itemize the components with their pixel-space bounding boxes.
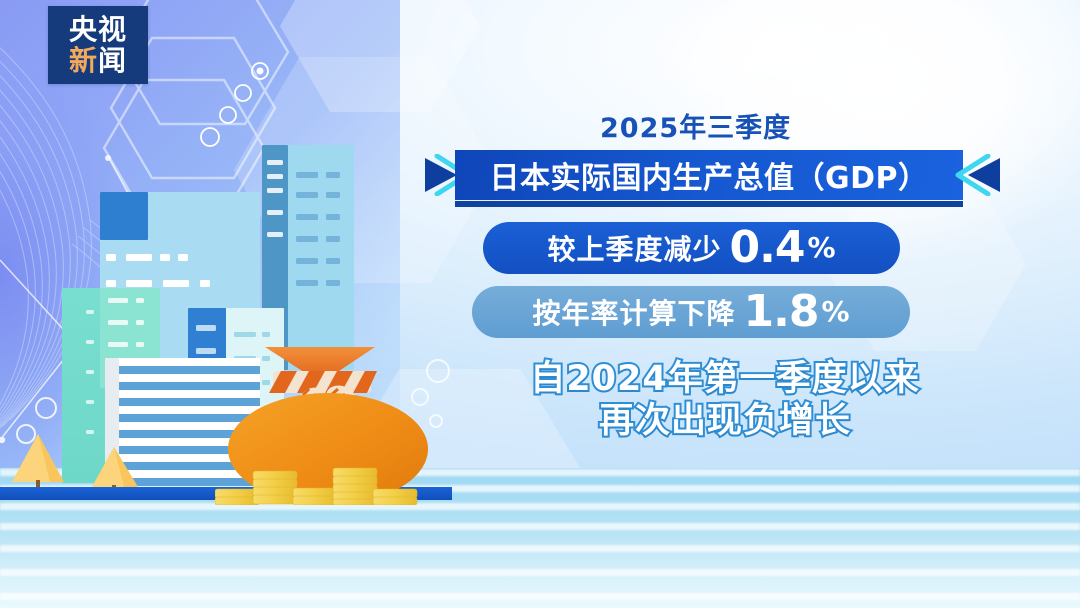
stat-pill-quarterly: 较上季度减少 0.4 %: [483, 222, 900, 274]
stat-label-annualized: 按年率计算下降: [532, 292, 735, 332]
tree-left: [10, 432, 70, 492]
logo-line-1: 央 视: [69, 16, 127, 44]
triangle-left-icon: [950, 154, 1002, 196]
gdp-banner: 日本实际国内生产总值（GDP）: [430, 150, 990, 208]
coin-stacks-icon: [215, 455, 460, 505]
logo-line-2: 新 闻: [69, 47, 127, 75]
stat-label-quarterly: 较上季度减少: [547, 228, 721, 268]
logo-char-wen: 闻: [98, 47, 127, 75]
stat-value-annualized: 1.8: [744, 290, 819, 334]
stat-unit-quarterly: %: [807, 234, 835, 262]
period-subtitle: 2025年三季度: [600, 106, 791, 145]
logo-char-xin: 新: [69, 47, 98, 75]
footnote-line-2: 再次出现负增长: [415, 392, 1035, 443]
stat-pill-annualized: 按年率计算下降 1.8 %: [472, 286, 910, 338]
infographic-stage: 2025年三季度 日本实际国内生产总值（GDP） 较上季度减少 0.4 % 按年…: [0, 0, 1080, 608]
logo-char-shi: 视: [98, 16, 127, 44]
gdp-banner-bar: 日本实际国内生产总值（GDP）: [455, 150, 963, 200]
cctv-news-logo: 央 视 新 闻: [48, 6, 148, 84]
gdp-banner-label: 日本实际国内生产总值（GDP）: [489, 153, 928, 197]
logo-char-yang: 央: [69, 16, 98, 44]
gdp-banner-underline: [455, 201, 963, 207]
stat-unit-annualized: %: [821, 298, 849, 326]
stat-value-quarterly: 0.4: [730, 226, 805, 270]
text-panel: 2025年三季度 日本实际国内生产总值（GDP） 较上季度减少 0.4 % 按年…: [430, 92, 1050, 462]
